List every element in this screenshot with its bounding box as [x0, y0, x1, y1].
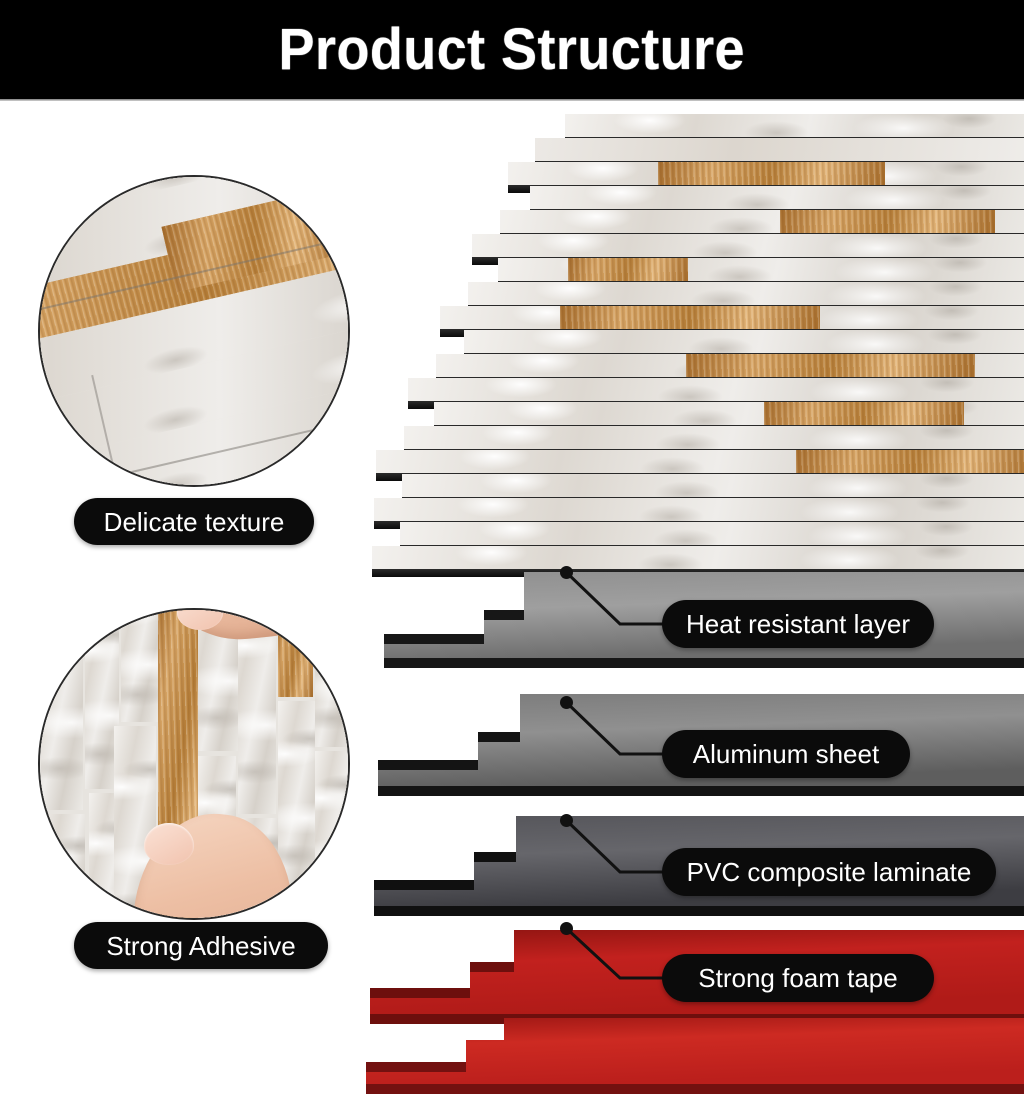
label-strong-foam-tape: Strong foam tape [662, 954, 934, 1002]
leader-dot [560, 696, 573, 709]
label-strong-foam-tape-text: Strong foam tape [698, 965, 897, 991]
label-heat-resistant-layer: Heat resistant layer [662, 600, 934, 648]
page-title: Product Structure [279, 16, 745, 83]
inset-strong-adhesive [38, 608, 350, 920]
layer-decorative-tile [360, 110, 1024, 580]
leader-dot [560, 566, 573, 579]
label-heat-resistant-layer-text: Heat resistant layer [686, 611, 910, 637]
label-aluminum-sheet: Aluminum sheet [662, 730, 910, 778]
inset-delicate-texture [38, 175, 350, 487]
caption-delicate-texture-label: Delicate texture [104, 509, 285, 535]
infographic-canvas: Product Structure Delicate [0, 0, 1024, 1012]
header-divider [0, 99, 1024, 101]
label-pvc-composite-laminate: PVC composite laminate [662, 848, 996, 896]
inset-photo-strong-adhesive [38, 608, 350, 920]
header-bar: Product Structure [0, 0, 1024, 99]
leader-dot [560, 814, 573, 827]
inset-photo-delicate-texture [38, 175, 350, 487]
caption-strong-adhesive-label: Strong Adhesive [106, 933, 295, 959]
caption-delicate-texture: Delicate texture [74, 498, 314, 545]
label-pvc-composite-laminate-text: PVC composite laminate [687, 859, 972, 885]
texture-closeup-image [38, 175, 350, 487]
label-aluminum-sheet-text: Aluminum sheet [693, 741, 879, 767]
adhesive-demo-image [38, 608, 350, 920]
layer-strong-foam-tape [362, 1018, 1024, 1114]
caption-strong-adhesive: Strong Adhesive [74, 922, 328, 969]
leader-dot [560, 922, 573, 935]
